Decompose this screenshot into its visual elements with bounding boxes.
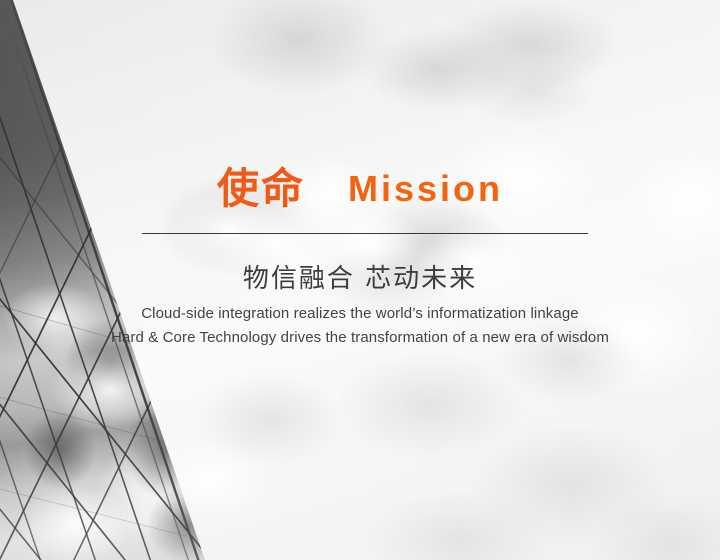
mission-banner: 使命 Mission 物信融合 芯动未来 Cloud-side integrat…	[0, 0, 720, 560]
title-chinese: 使命	[217, 164, 305, 213]
mission-description: Cloud-side integration realizes the worl…	[0, 302, 720, 350]
title-english: Mission	[348, 168, 503, 209]
subtitle-chinese: 物信融合 芯动未来	[0, 258, 720, 295]
page-title: 使命 Mission	[0, 168, 720, 210]
title-divider-rule	[142, 233, 588, 234]
description-line-2: Hard & Core Technology drives the transf…	[0, 326, 720, 350]
description-line-1: Cloud-side integration realizes the worl…	[0, 302, 720, 326]
banner-content: 使命 Mission 物信融合 芯动未来 Cloud-side integrat…	[0, 0, 720, 560]
